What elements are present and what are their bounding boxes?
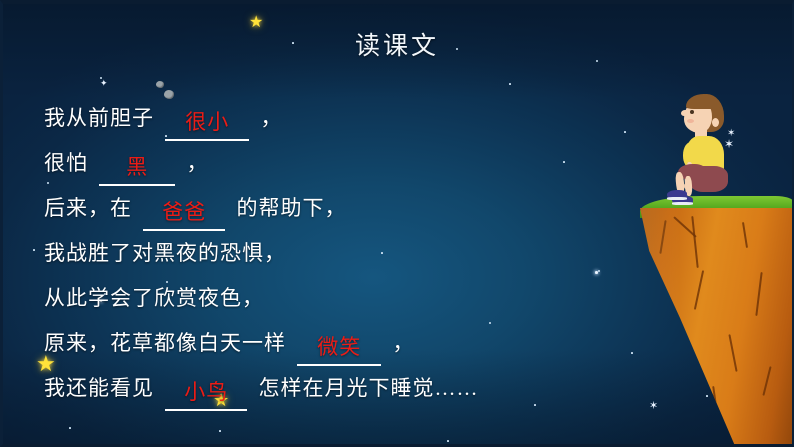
- verse-line-6-before: 原来，花草都像白天一样: [44, 331, 286, 355]
- verse-line-6-blank[interactable]: 微笑: [297, 330, 381, 366]
- verse-line-1: 我从前胆子 很小 ，: [44, 96, 644, 141]
- verse-line-2-blank[interactable]: 黑: [99, 150, 175, 186]
- verse-line-5-text: 从此学会了欣赏夜色，: [44, 286, 264, 310]
- verse-line-1-blank[interactable]: 很小: [165, 105, 249, 141]
- boy-cheek: [687, 119, 694, 123]
- boy-eye: [690, 110, 694, 114]
- verse-line-1-after: ，: [261, 106, 283, 130]
- verse-line-3-after: 的帮助下，: [237, 196, 347, 220]
- white-star-icon: ✶: [724, 138, 734, 150]
- white-star-icon: ✦: [100, 80, 108, 89]
- verse-line-7-before: 我还能看见: [44, 376, 154, 400]
- verse-line-2-after: ，: [187, 151, 209, 175]
- boy-ear: [712, 118, 719, 127]
- verse-line-5: 从此学会了欣赏夜色，: [44, 276, 644, 321]
- boy-hair-fringe: [686, 94, 720, 109]
- verse-line-3-blank[interactable]: 爸爸: [143, 195, 225, 231]
- verse-line-3: 后来，在 爸爸 的帮助下，: [44, 186, 644, 231]
- verse-line-7-after: 怎样在月光下睡觉……: [259, 376, 479, 400]
- verse-line-4: 我战胜了对黑夜的恐惧，: [44, 231, 644, 276]
- cliff-illustration: ✶: [634, 0, 794, 447]
- boy-shoe-sole: [672, 202, 693, 205]
- verse-line-4-text: 我战胜了对黑夜的恐惧，: [44, 241, 286, 265]
- verse-line-6: 原来，花草都像白天一样 微笑 ，: [44, 321, 644, 366]
- cliff-rock: [640, 208, 794, 447]
- verse-line-2: 很怕 黑 ，: [44, 141, 644, 186]
- verse-line-1-before: 我从前胆子: [44, 106, 154, 130]
- verse-line-2-before: 很怕: [44, 151, 88, 175]
- verse-line-7: 我还能看见 小鸟 怎样在月光下睡觉……: [44, 366, 644, 411]
- slide-canvas: ✦ ✶ ✶ ★ ★ ★ 读课文 我从前胆子 很小 ， 很怕 黑 ， 后来，在 爸…: [0, 0, 794, 447]
- verse-line-6-after: ，: [393, 331, 415, 355]
- verse-text-block: 我从前胆子 很小 ， 很怕 黑 ， 后来，在 爸爸 的帮助下， 我战胜了对黑夜的…: [44, 96, 644, 411]
- boy-shoe-sole: [667, 197, 687, 200]
- verse-line-3-before: 后来，在: [44, 196, 132, 220]
- boy-nose: [681, 110, 688, 116]
- pebble-icon: [156, 81, 164, 88]
- verse-line-7-blank[interactable]: 小鸟: [165, 375, 247, 411]
- boy-figure: ✶: [668, 92, 748, 204]
